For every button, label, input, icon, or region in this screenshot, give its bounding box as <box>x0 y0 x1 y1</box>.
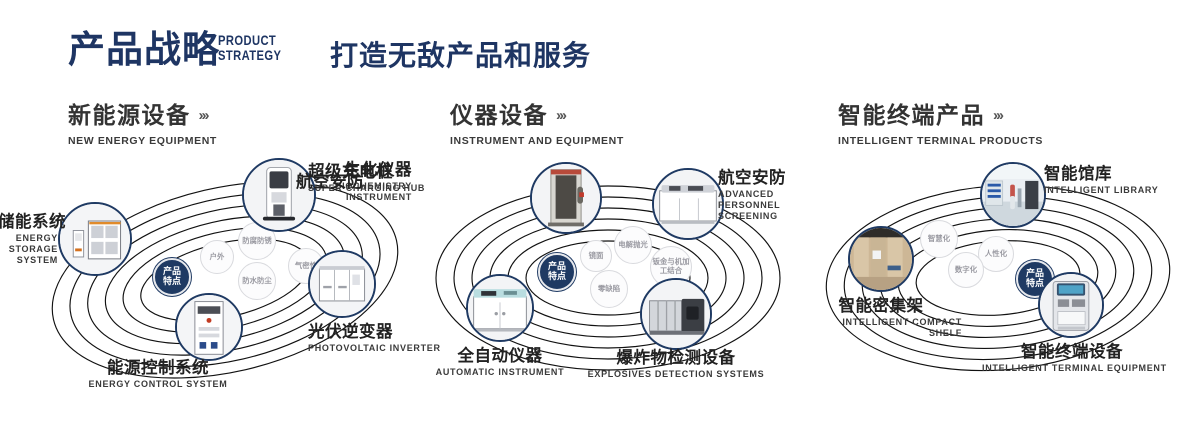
page-title-english: PRODUCT STRATEGY <box>218 33 281 63</box>
product-caption-cn: 储能系统 <box>0 212 58 231</box>
product-caption-en: INTELLIGENT COMPACT SHELF <box>842 317 962 339</box>
product-caption-en: ENERGY CONTROL SYSTEM <box>68 379 248 390</box>
product-caption-en: ENERGY STORAGE SYSTEM <box>0 233 58 266</box>
feature-bubble: 电解抛光 <box>614 226 652 264</box>
core-badge: 产品特点 <box>538 253 576 291</box>
auto-analyzer-icon <box>468 276 532 340</box>
page-title: 产品战略 <box>68 28 220 72</box>
product-caption-en: EXPLOSIVES DETECTION SYSTEMS <box>586 369 766 380</box>
chevron-right-icon: ››› <box>199 107 208 124</box>
core-badge-label: 产品特点 <box>163 267 181 288</box>
page-slogan: 打造无敌产品和服务 <box>330 34 591 74</box>
security-scanner-icon <box>532 164 600 232</box>
product-caption-cn: 智能终端设备 <box>982 342 1162 361</box>
product-caption-energy-control: 能源控制系统 ENERGY CONTROL SYSTEM <box>68 358 248 390</box>
charging-pile-icon <box>244 160 314 230</box>
product-node-charging-hub[interactable] <box>242 158 316 232</box>
product-node-compact-shelf[interactable] <box>848 226 914 292</box>
section-heading-en: INTELLIGENT TERMINAL PRODUCTS <box>838 135 1043 147</box>
core-badge-label: 产品特点 <box>548 262 566 283</box>
control-cabinet-icon <box>177 295 241 359</box>
product-caption-cn: 爆炸物检测设备 <box>586 348 766 367</box>
product-node-energy-control[interactable] <box>175 293 243 361</box>
section-heading-instrument: 仪器设备››› INSTRUMENT AND EQUIPMENT <box>450 96 624 147</box>
section-heading-intelligent-terminal: 智能终端产品››› INTELLIGENT TERMINAL PRODUCTS <box>838 96 1043 147</box>
product-node-energy-storage[interactable] <box>58 202 132 276</box>
section-heading-cn: 智能终端产品››› <box>838 96 1043 130</box>
chevron-right-icon: ››› <box>993 107 1002 124</box>
feature-bubble: 户外 <box>200 240 234 274</box>
core-badge: 产品特点 <box>153 258 191 296</box>
product-caption-en: AUTOMATIC INSTRUMENT <box>410 367 590 378</box>
product-caption-compact-shelf: 智能密集架 INTELLIGENT COMPACT SHELF <box>792 296 970 339</box>
section-heading-cn: 新能源设备››› <box>68 96 217 130</box>
chevron-right-icon: ››› <box>556 107 565 124</box>
section-heading-en: NEW ENERGY EQUIPMENT <box>68 135 217 147</box>
feature-bubble: 智慧化 <box>920 220 958 258</box>
product-caption-intelligent-library: 智能馆库 INTELLIGENT LIBRARY <box>1044 164 1158 196</box>
screening-machine-icon <box>654 170 722 238</box>
product-caption-terminal-equipment: 智能终端设备 INTELLIGENT TERMINAL EQUIPMENT <box>982 342 1162 374</box>
product-caption-automatic-instrument: 全自动仪器 AUTOMATIC INSTRUMENT <box>410 346 590 378</box>
product-node-intelligent-library[interactable] <box>980 162 1046 228</box>
product-node-explosives-detection[interactable] <box>640 278 712 350</box>
section-heading-cn: 仪器设备››› <box>450 96 624 130</box>
orbit-diagram-intelligent-terminal: 产品特点 智慧化 人性化 数字化 智能馆库 INTELLIGENT LIBRAR… <box>800 150 1200 400</box>
kiosk-terminal-icon <box>1040 274 1102 336</box>
compact-shelf-icon <box>850 228 912 290</box>
page-header: 产品战略 PRODUCT STRATEGY 打造无敌产品和服务 <box>0 0 1200 90</box>
library-room-icon <box>982 164 1044 226</box>
pv-inverter-icon <box>310 252 374 316</box>
product-node-personnel-screening[interactable] <box>652 168 724 240</box>
product-caption-en: INTELLIGENT TERMINAL EQUIPMENT <box>982 363 1162 374</box>
product-caption-en: INTELLIGENT LIBRARY <box>1044 185 1158 196</box>
section-heading-en: INSTRUMENT AND EQUIPMENT <box>450 135 624 147</box>
product-caption-cn: 智能密集架 <box>792 296 970 315</box>
product-node-automatic-instrument[interactable] <box>466 274 534 342</box>
page-title-english-line2: STRATEGY <box>218 48 281 63</box>
feature-bubble: 防水防尘 <box>238 262 276 300</box>
explosive-detector-icon <box>642 280 710 348</box>
product-caption-cn: 能源控制系统 <box>68 358 248 377</box>
feature-bubble: 数字化 <box>948 252 984 288</box>
page-title-english-line1: PRODUCT <box>218 33 281 48</box>
orbit-diagram-instrument: 产品特点 镜面 电解抛光 钣金与机加工结合 零缺陷 生化仪器 BIOCHEMIS… <box>408 150 808 400</box>
product-caption-cn: 全自动仪器 <box>410 346 590 365</box>
section-heading-new-energy: 新能源设备››› NEW ENERGY EQUIPMENT <box>68 96 217 147</box>
product-caption-cn: 智能馆库 <box>1044 164 1158 183</box>
battery-cabinet-icon <box>60 204 130 274</box>
product-caption-explosives-detection: 爆炸物检测设备 EXPLOSIVES DETECTION SYSTEMS <box>586 348 766 380</box>
product-caption-aviation-security-left: 航空安防 <box>268 172 364 191</box>
product-caption-cn: 航空安防 <box>268 172 364 191</box>
product-caption-energy-storage: 储能系统 ENERGY STORAGE SYSTEM <box>0 212 58 266</box>
product-node-terminal-equipment[interactable] <box>1038 272 1104 338</box>
feature-bubble: 镜面 <box>580 240 612 272</box>
feature-bubble: 零缺陷 <box>590 270 628 308</box>
product-node-pv-inverter[interactable] <box>308 250 376 318</box>
product-node-biochemistry-instrument[interactable] <box>530 162 602 234</box>
